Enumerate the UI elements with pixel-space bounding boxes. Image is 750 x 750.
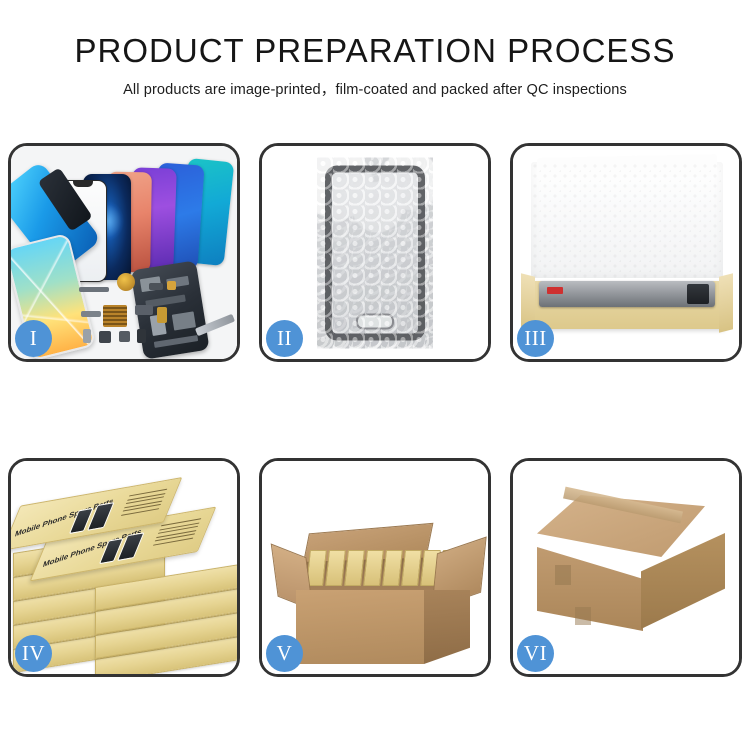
carton-front-face xyxy=(296,590,424,664)
sim-tray-part xyxy=(83,329,91,343)
packed-box xyxy=(344,550,365,586)
carton-side-face xyxy=(424,590,470,664)
speaker-part xyxy=(117,273,135,291)
camera-part xyxy=(99,331,111,343)
screw-part xyxy=(137,329,146,343)
packed-box xyxy=(401,550,422,586)
bubble-wrapped-screen xyxy=(317,157,433,348)
page-title: PRODUCT PREPARATION PROCESS xyxy=(0,34,750,69)
chip-array-part xyxy=(103,305,127,327)
button-part xyxy=(119,331,130,342)
antenna-part xyxy=(157,307,167,323)
packed-box xyxy=(363,550,384,586)
box-spec-lines xyxy=(120,489,167,518)
process-step-panel-6: VI xyxy=(510,458,742,677)
spec-line xyxy=(153,537,193,545)
contact-part xyxy=(167,281,176,290)
phone-lineup xyxy=(81,158,231,276)
pcb-chip xyxy=(172,311,196,330)
process-step-panel-3: III xyxy=(510,143,742,362)
step-badge-5: V xyxy=(266,635,303,672)
white-foam-sheet xyxy=(531,162,723,278)
packed-box xyxy=(325,550,346,586)
step-badge-3: III xyxy=(517,320,554,357)
process-step-panel-4: Mobile Phone Spare Parts xyxy=(8,458,240,677)
step-badge-2: II xyxy=(266,320,303,357)
packed-box xyxy=(382,550,403,586)
step-badge-4: IV xyxy=(15,635,52,672)
page-subtitle: All products are image-printed，film-coat… xyxy=(0,78,750,99)
process-step-panel-1: I xyxy=(8,143,240,362)
process-step-panel-5: V xyxy=(259,458,491,677)
screen-inside-box xyxy=(539,281,715,307)
page-header: PRODUCT PREPARATION PROCESS All products… xyxy=(0,0,750,99)
ribbon-part xyxy=(81,311,101,317)
small-parts-group xyxy=(77,271,163,349)
connector-part xyxy=(149,283,163,290)
process-steps-grid: I II III xyxy=(8,143,742,677)
flex-cable-part xyxy=(79,287,109,292)
process-step-panel-2: II xyxy=(259,143,491,362)
product-preparation-page: PRODUCT PREPARATION PROCESS All products… xyxy=(0,0,750,750)
step-badge-1: I xyxy=(15,320,52,357)
carton-seam-upper xyxy=(555,565,571,585)
carton-seam-lower xyxy=(575,607,591,625)
screen-outline xyxy=(325,165,425,340)
step-badge-6: VI xyxy=(517,635,554,672)
bracket-part xyxy=(135,305,153,315)
